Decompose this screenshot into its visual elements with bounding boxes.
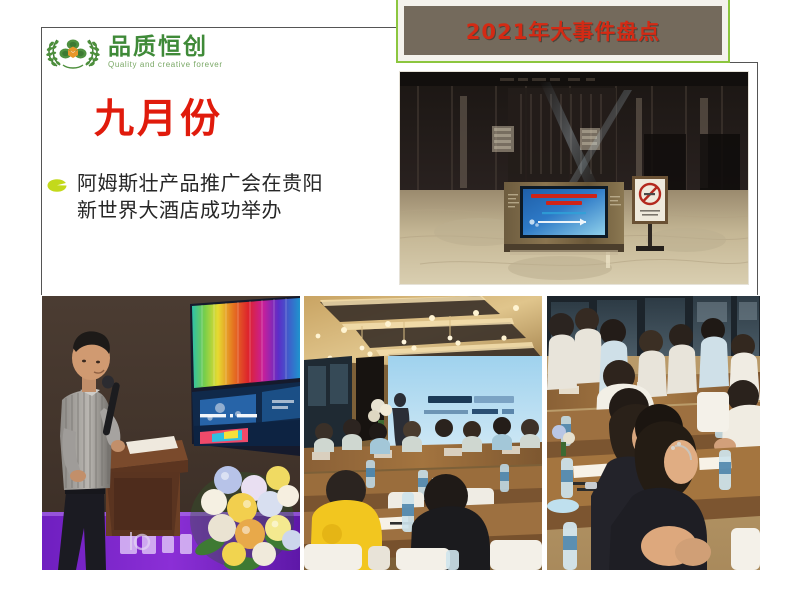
audience-listening-photo [547,296,760,570]
month-heading: 九月份 [94,86,223,144]
content-frame-top-right-rule [730,62,758,63]
leaf-crescent-bullet-icon [47,179,67,192]
bullet-text: 阿姆斯壮产品推广会在贵阳新世界大酒店成功举办 [77,170,332,224]
bullet-item: 阿姆斯壮产品推广会在贵阳新世界大酒店成功举办 [47,170,347,224]
logo-wordmark: 品质恒创 Quality and creative forever [108,36,223,69]
content-frame-left-rule [41,27,42,295]
presentation-slide: 2021年大事件盘点 [0,0,800,599]
slide-banner: 2021年大事件盘点 [396,0,730,63]
logo-chinese-name: 品质恒创 [108,36,223,59]
wheat-wreath-emblem-icon [44,32,102,72]
hotel-lobby-signage-photo [400,72,748,284]
logo-tagline: Quality and creative forever [108,61,223,69]
speaker-at-podium-photo [42,296,300,570]
slide-banner-title: 2021年大事件盘点 [466,16,660,46]
content-frame-top-rule [41,27,398,28]
company-logo: 品质恒创 Quality and creative forever [44,30,244,74]
content-frame-right-rule [757,62,758,295]
conference-room-audience-photo [304,296,542,570]
slide-banner-fill: 2021年大事件盘点 [404,6,722,55]
